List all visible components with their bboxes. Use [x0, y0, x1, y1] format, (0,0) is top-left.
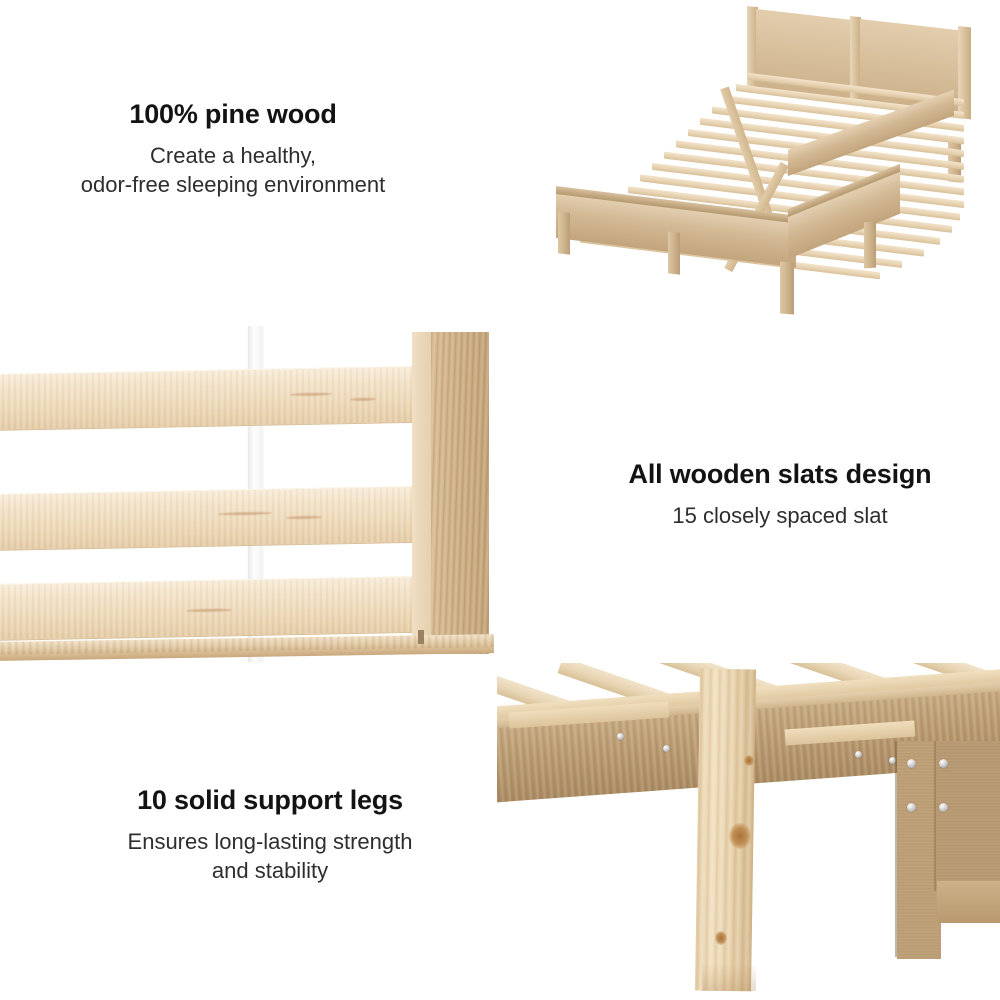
infographic-canvas: 100% pine wood Create a healthy, odor-fr…: [0, 0, 1000, 1000]
feature-block-pine-wood: 100% pine wood Create a healthy, odor-fr…: [18, 98, 448, 199]
feature-title-legs: 10 solid support legs: [60, 784, 480, 818]
support-leg-illustration: [497, 663, 1000, 1000]
feature-subtitle-line: 15 closely spaced slat: [600, 501, 960, 530]
rail-screw: [617, 733, 624, 740]
pine-support-leg-base-shadow: [702, 963, 756, 991]
feature-title-slats: All wooden slats design: [600, 458, 960, 492]
metal-bolt: [939, 759, 948, 768]
photo-bed-frame-full: [540, 0, 1000, 330]
rail-joint-notch: [418, 630, 424, 644]
feature-block-legs: 10 solid support legs Ensures long-lasti…: [60, 784, 480, 885]
photo-support-leg-underside: [497, 663, 1000, 1000]
pine-slat: [0, 365, 440, 431]
bracket-seam: [895, 741, 897, 957]
feature-subtitle-line: Create a healthy,: [18, 141, 448, 170]
pine-slat: [0, 575, 440, 641]
photo-slat-closeup: [0, 326, 512, 666]
bracket-seam: [934, 741, 936, 891]
feature-subtitle-legs: Ensures long-lasting strength and stabil…: [60, 827, 480, 885]
wood-knot: [350, 398, 376, 401]
lower-cross-rail: [937, 881, 1000, 923]
oak-side-rail-post: [431, 332, 489, 654]
bed-frame-illustration: [540, 0, 1000, 330]
wood-knot: [290, 392, 332, 396]
wood-knot: [186, 608, 232, 612]
rail-inner-edge: [412, 332, 432, 654]
wood-knot: [218, 512, 272, 516]
wood-knot: [286, 516, 322, 520]
feature-title-pine-wood: 100% pine wood: [18, 98, 448, 132]
metal-bolt: [939, 803, 948, 812]
metal-bolt: [907, 759, 916, 768]
bed-leg-corner-front: [780, 262, 794, 315]
feature-subtitle-line: Ensures long-lasting strength: [60, 827, 480, 856]
pine-slat: [0, 485, 440, 551]
feature-block-slats: All wooden slats design 15 closely space…: [600, 458, 960, 530]
bed-leg-foot-right: [864, 222, 876, 269]
feature-subtitle-line: odor-free sleeping environment: [18, 170, 448, 199]
rail-screw: [855, 751, 862, 758]
bed-leg-front-left: [558, 211, 570, 254]
feature-subtitle-slats: 15 closely spaced slat: [600, 501, 960, 530]
metal-bolt: [907, 803, 916, 812]
feature-subtitle-line: and stability: [60, 856, 480, 885]
wood-knot: [744, 755, 754, 766]
bed-leg-front-center: [668, 231, 680, 274]
wood-knot: [715, 931, 727, 945]
rail-screw: [663, 745, 670, 752]
wood-knot: [729, 823, 751, 849]
feature-subtitle-pine-wood: Create a healthy, odor-free sleeping env…: [18, 141, 448, 199]
